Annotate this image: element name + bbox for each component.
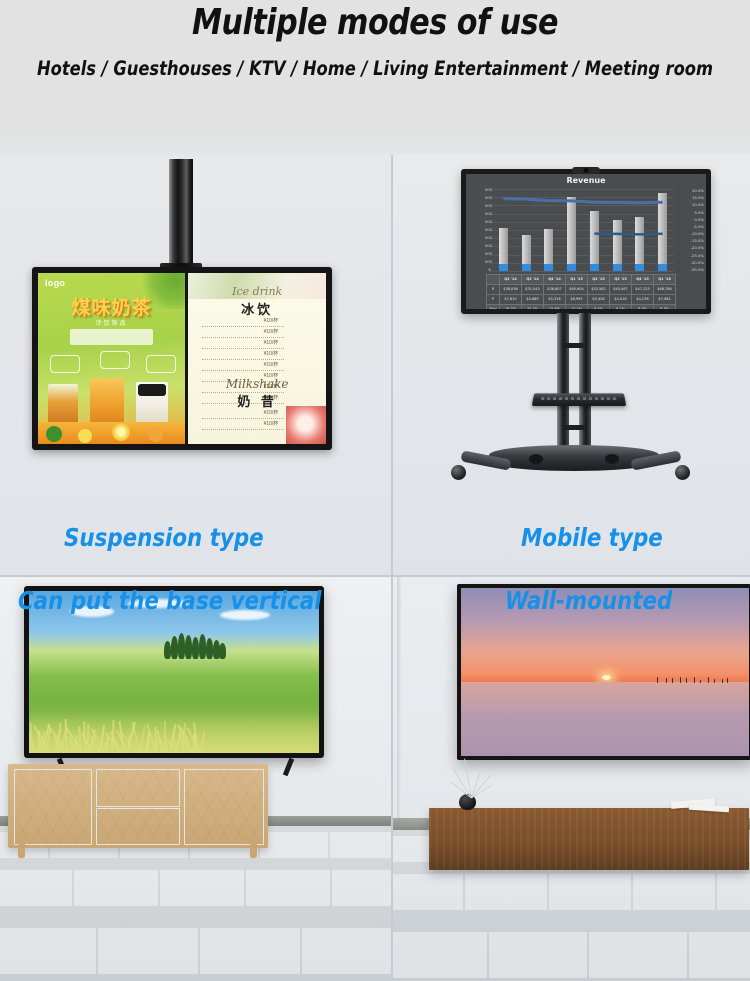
floor-tile <box>302 928 392 974</box>
floor-tile <box>465 874 547 910</box>
ocean-water <box>461 682 749 756</box>
cart-wheel <box>675 465 690 480</box>
grass-blade <box>43 741 46 753</box>
chart-trend-lines <box>492 189 674 271</box>
floor-tile <box>393 874 463 910</box>
revenue-chart: Revenue 000000000000000000000000000000$-… <box>466 174 706 309</box>
person-silhouette <box>714 679 715 683</box>
water-ripple <box>461 690 749 691</box>
table-cell: $5,889 <box>522 295 544 305</box>
table-cell: $68,788 <box>654 285 676 295</box>
menu-script-top: Ice drink <box>188 285 326 298</box>
milk-tea-poster: logo 煤味奶茶 冷饮饰品 <box>38 273 185 444</box>
floor-tile <box>260 832 328 858</box>
suspended-display: logo 煤味奶茶 冷饮饰品 <box>32 267 332 450</box>
menu-item-row: ¥10/杯 <box>202 328 284 338</box>
water-ripple <box>461 687 749 688</box>
chart-y-axis-right: 20.0%15.0%10.0%5.0%0.0%-5.0%-10.0%-15.0%… <box>676 188 704 272</box>
water-ripple <box>461 731 749 732</box>
table-cell: $5,428 <box>588 295 610 305</box>
menu-item-price: ¥10/杯 <box>264 339 279 346</box>
sun <box>602 675 611 680</box>
table-cell: $47,225 <box>632 285 654 295</box>
floor-tile <box>489 932 587 978</box>
y-tick-right: -35.0% <box>676 267 704 272</box>
floor-tile <box>393 932 487 978</box>
tree <box>185 635 192 659</box>
y-tick-right: -20.0% <box>676 245 704 250</box>
chart-data-table: Q2 '14Q3 '14Q4 '14Q1 '15Q2 '15Q3 '15Q4 '… <box>486 274 676 309</box>
table-cell: $65,604 <box>566 285 588 295</box>
chart-y-axis-left: 000000000000000000000000000000$- <box>468 188 492 272</box>
y-tick-right: 15.0% <box>676 195 704 200</box>
menu-heading-iced: 冰饮 <box>188 299 326 318</box>
menu-item-row: ¥10/杯 <box>202 339 284 349</box>
y-tick-right: -10.0% <box>676 231 704 236</box>
floor-tile <box>0 928 96 974</box>
poster-subtitle: 冷饮饰品 <box>38 318 185 327</box>
water-ripple <box>461 714 749 715</box>
table-cell: $31,543 <box>522 285 544 295</box>
panel-suspension: logo 煤味奶茶 冷饮饰品 <box>0 155 392 575</box>
person-silhouette <box>708 677 709 683</box>
chart-title: Revenue <box>466 176 706 185</box>
table-cell: $5,316 <box>544 295 566 305</box>
floor-tile <box>74 870 158 906</box>
tree <box>219 643 226 659</box>
water-ripple <box>461 709 749 710</box>
water-ripple <box>461 701 749 702</box>
menu-item-row: ¥10/杯 <box>202 350 284 360</box>
speech-bubble-icon <box>100 351 130 369</box>
y-tick-right: -25.0% <box>676 253 704 258</box>
table-header-cell: Q1 '16 <box>654 275 676 285</box>
water-ripple <box>461 739 749 740</box>
table-cell: 16.7% <box>500 305 522 310</box>
floor-tile <box>160 870 244 906</box>
y-tick-left: 000 <box>468 204 492 208</box>
y-tick-left: 000 <box>468 228 492 232</box>
water-ripple <box>461 717 749 718</box>
table-cell: $4,518 <box>610 295 632 305</box>
caption-base-vertical: Can put the base vertical <box>18 586 322 615</box>
floor-tile <box>633 874 715 910</box>
water-ripple <box>461 696 749 697</box>
tree <box>164 641 171 659</box>
scene-grid: logo 煤味奶茶 冷饮饰品 <box>0 155 750 981</box>
y-tick-right: -15.0% <box>676 238 704 243</box>
y-tick-left: 000 <box>468 188 492 192</box>
fruit-icon <box>78 429 92 443</box>
floor-tile <box>549 874 631 910</box>
table-cell: 8.3% <box>632 305 654 310</box>
table-header-cell: Q4 '15 <box>632 275 654 285</box>
grass-blade <box>200 731 205 753</box>
webcam-icon <box>572 167 600 174</box>
y-tick-left: 000 <box>468 220 492 224</box>
panel-base-vertical: Can put the base vertical <box>0 576 392 981</box>
y-tick-left: 000 <box>468 260 492 264</box>
water-ripple <box>461 712 749 713</box>
tree <box>171 636 178 659</box>
person-silhouette <box>727 678 728 683</box>
table-cell: 9.4% <box>588 305 610 310</box>
fruit-band <box>38 422 185 444</box>
wall-corner <box>397 576 402 824</box>
water-ripple <box>461 750 749 751</box>
mobile-tv-cart <box>393 313 750 493</box>
menu-item-price: ¥10/杯 <box>264 350 279 357</box>
panel-mobile: Revenue 000000000000000000000000000000$-… <box>393 155 750 575</box>
water-ripple <box>461 747 749 748</box>
caption-mobile: Mobile type <box>521 523 663 552</box>
menu-item-row: ¥10/杯 <box>202 409 284 419</box>
person-silhouette <box>680 677 681 683</box>
menu-item-row: ¥10/杯 <box>202 361 284 371</box>
menu-board: Ice drink 冰饮 ¥10/杯¥10/杯¥10/杯¥10/杯¥10/杯¥1… <box>188 273 326 444</box>
table-cell: 12.1% <box>566 305 588 310</box>
page-title: Multiple modes of use <box>26 2 724 43</box>
table-header-cell: Q3 '14 <box>522 275 544 285</box>
y-tick-right: -5.0% <box>676 224 704 229</box>
poster-text-box <box>70 329 152 345</box>
cart-rung <box>563 343 585 348</box>
table-cell: 15.7% <box>522 305 544 310</box>
gridline <box>492 271 674 272</box>
floor-tile <box>98 928 198 974</box>
water-ripple <box>461 744 749 745</box>
people-silhouettes <box>657 677 743 683</box>
y-tick-right: 10.0% <box>676 202 704 207</box>
tiled-floor <box>0 826 392 981</box>
person-silhouette <box>657 677 658 683</box>
table-row-label: R <box>487 285 500 295</box>
person-silhouette <box>694 677 695 683</box>
water-ripple <box>461 720 749 721</box>
floor-tile <box>689 932 750 978</box>
table-cell: $36,807 <box>544 285 566 295</box>
water-ripple <box>461 698 749 699</box>
panel-wall-mounted: Wall-mounted <box>393 576 750 981</box>
table-header-cell: Q2 '14 <box>500 275 522 285</box>
y-tick-left: $- <box>468 268 492 272</box>
table-cell: $52,582 <box>588 285 610 295</box>
grass-blade <box>105 736 109 753</box>
y-tick-right: 0.0% <box>676 217 704 222</box>
tree <box>192 637 199 659</box>
cart-rung <box>563 425 585 430</box>
floor-tile <box>589 932 687 978</box>
table-cell: $7,084 <box>654 295 676 305</box>
cabinet-leg <box>18 840 25 858</box>
floor-tile <box>332 870 392 906</box>
horizontal-divider <box>0 575 750 577</box>
tree <box>199 634 206 659</box>
table-header-cell: Q3 '15 <box>610 275 632 285</box>
person-silhouette <box>686 678 687 683</box>
floor-tile <box>717 874 750 910</box>
y-tick-left: 000 <box>468 252 492 256</box>
menu-item-price: ¥10/杯 <box>264 361 279 368</box>
y-tick-left: 000 <box>468 212 492 216</box>
cabinet-leg <box>250 840 257 858</box>
y-tick-left: 000 <box>468 244 492 248</box>
table-row-label: P <box>487 295 500 305</box>
water-ripple <box>461 728 749 729</box>
fruit-icon <box>46 426 62 442</box>
y-tick-left: 000 <box>468 236 492 240</box>
tree <box>178 633 185 659</box>
person-silhouette <box>700 680 701 683</box>
y-tick-right: -30.0% <box>676 260 704 265</box>
floor-tile <box>330 832 392 858</box>
page-header: Multiple modes of use Hotels / Guesthous… <box>0 0 750 155</box>
wooden-sideboard <box>429 808 749 870</box>
person-silhouette <box>666 678 667 683</box>
floor-tile <box>200 928 300 974</box>
menu-script-bottom: Milkshake <box>188 377 326 391</box>
table-cell: $38,036 <box>500 285 522 295</box>
menu-item-price: ¥10/杯 <box>264 328 279 335</box>
table-cell: $7,610 <box>500 295 522 305</box>
cabinet-drawer[interactable] <box>96 808 180 845</box>
poster-title: 煤味奶茶 <box>38 293 185 320</box>
menu-item-price: ¥10/杯 <box>264 409 279 416</box>
screen-content-field <box>29 591 319 753</box>
tree-cluster <box>162 633 224 659</box>
water-ripple <box>461 685 749 686</box>
water-ripple <box>461 736 749 737</box>
tv-cabinet <box>8 764 268 848</box>
page-subtitle: Hotels / Guesthouses / KTV / Home / Livi… <box>26 57 724 80</box>
table-row-label: Total <box>487 305 500 310</box>
poster-logo: logo <box>45 278 65 288</box>
floor-tile <box>246 870 330 906</box>
cabinet-door[interactable] <box>184 769 264 845</box>
table-cell: 9.3% <box>654 305 676 310</box>
table-cell: $45,067 <box>610 285 632 295</box>
fruit-icon <box>148 427 163 442</box>
caption-wall-mounted: Wall-mounted <box>505 586 672 615</box>
water-ripple <box>461 693 749 694</box>
drink-cup <box>90 378 124 428</box>
cart-shelf <box>532 393 626 406</box>
cabinet-drawer[interactable] <box>96 769 180 807</box>
y-tick-right: 20.0% <box>676 188 704 193</box>
fruit-icon <box>112 423 130 441</box>
floor-tile <box>0 870 72 906</box>
person-silhouette <box>672 678 673 684</box>
y-tick-left: 000 <box>468 196 492 200</box>
water-ripple <box>461 704 749 705</box>
mobile-display: Revenue 000000000000000000000000000000$-… <box>461 169 711 314</box>
table-cell: $8,995 <box>566 295 588 305</box>
ceiling-pole <box>169 159 193 269</box>
menu-item-row: ¥10/杯 <box>202 420 284 430</box>
cart-wheel <box>451 465 466 480</box>
water-ripple <box>461 725 749 726</box>
tree <box>206 638 213 659</box>
y-tick-right: 5.0% <box>676 210 704 215</box>
table-header-cell: Q2 '15 <box>588 275 610 285</box>
water-ripple <box>461 741 749 742</box>
menu-item-row: ¥10/杯 <box>202 317 284 327</box>
person-silhouette <box>722 679 723 683</box>
chart-plot-area <box>492 189 674 271</box>
water-ripple <box>461 706 749 707</box>
table-cell: 9.1% <box>610 305 632 310</box>
flower-decoration <box>286 406 326 444</box>
table-header-cell: Q1 '15 <box>566 275 588 285</box>
table-cell: 12.6% <box>544 305 566 310</box>
table-header-cell: Q4 '14 <box>544 275 566 285</box>
vertical-divider <box>391 155 393 981</box>
product-feature-page: Multiple modes of use Hotels / Guesthous… <box>0 0 750 981</box>
menu-item-price: ¥10/杯 <box>264 317 279 324</box>
caption-suspension: Suspension type <box>64 523 264 552</box>
foreground-grass <box>29 699 319 753</box>
grass-blade <box>157 730 163 753</box>
cabinet-door[interactable] <box>14 769 92 845</box>
menu-item-price: ¥10/杯 <box>264 420 279 427</box>
table-cell: $4,276 <box>632 295 654 305</box>
water-ripple <box>461 733 749 734</box>
dried-branches <box>453 754 493 798</box>
water-ripple <box>461 723 749 724</box>
